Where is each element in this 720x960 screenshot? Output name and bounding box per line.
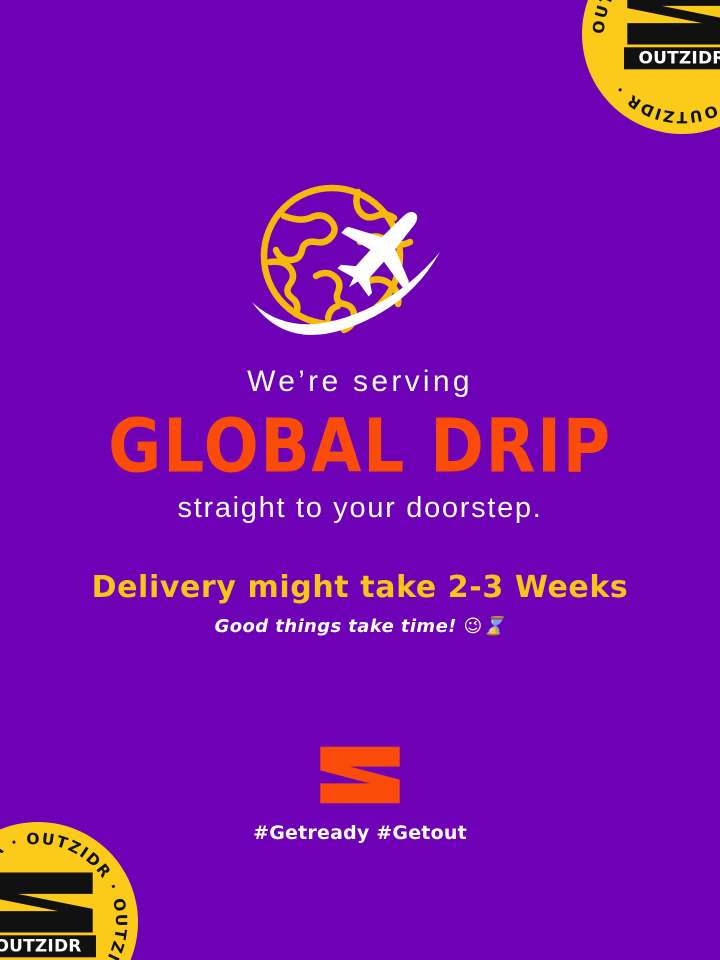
outzidr-z-logo-icon (0, 870, 97, 934)
headline-text: GLOBAL DRIP (0, 409, 720, 483)
footer-block: #Getready #Getout (0, 744, 720, 844)
tagline-text: Good things take time! 😉⌛ (0, 616, 720, 637)
badge-inner-bottom-left: OUTZIDR (0, 870, 97, 957)
brand-z-logo-icon (318, 744, 402, 806)
badge-wordmark-bar-top-right: OUTZIDR (624, 48, 720, 70)
poster-canvas: OUTZIDR · OUTZIDR · OUTZIDR · OUTZIDR · … (0, 0, 720, 960)
delivery-notice: Delivery might take 2-3 Weeks (0, 570, 720, 605)
copy-block: We’re serving GLOBAL DRIP straight to yo… (0, 366, 720, 637)
globe-airplane-icon (240, 178, 480, 338)
kicker-text: We’re serving (0, 366, 720, 398)
badge-wordmark-bar-bottom-left: OUTZIDR (0, 936, 96, 958)
brand-badge-top-right: OUTZIDR · OUTZIDR · OUTZIDR · OUTZIDR · … (582, 0, 720, 134)
badge-wordmark-bottom-left: OUTZIDR (0, 937, 82, 957)
subline-text: straight to your doorstep. (0, 492, 720, 525)
badge-wordmark-top-right: OUTZIDR (638, 49, 720, 69)
globe-plane-illustration (0, 178, 720, 338)
hashtags-text: #Getready #Getout (0, 822, 720, 844)
badge-inner-top-right: OUTZIDR (623, 0, 720, 70)
outzidr-z-logo-icon (623, 0, 720, 47)
